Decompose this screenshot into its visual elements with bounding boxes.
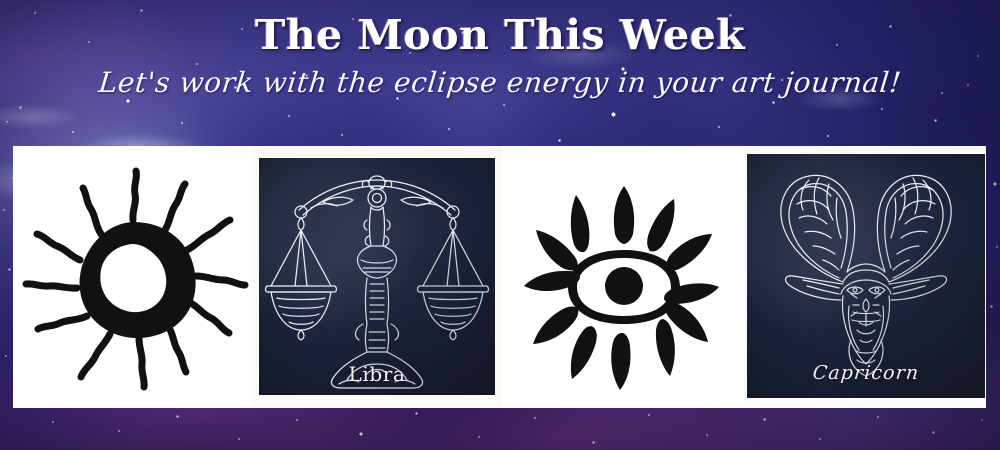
page-title: The Moon This Week (0, 14, 1000, 57)
panel-capricorn[interactable]: Capricorn (747, 154, 985, 398)
banner-heading-group: The Moon This Week Let's work with the e… (0, 14, 1000, 99)
panel-eclipse-sun-petal[interactable] (502, 146, 745, 408)
artwork-strip: Libra (13, 146, 986, 408)
eclipse-sun-petal-rays-icon (502, 146, 745, 408)
moon-this-week-banner: The Moon This Week Let's work with the e… (0, 0, 1000, 450)
eclipse-sun-wavy-rays-icon (13, 146, 253, 408)
page-subtitle: Let's work with the eclipse energy in yo… (0, 68, 1000, 99)
capricorn-goat-head-icon (747, 154, 985, 398)
panel-eclipse-sun-wavy[interactable] (13, 146, 253, 408)
libra-scales-icon (259, 158, 495, 395)
panel-libra[interactable]: Libra (259, 158, 495, 395)
